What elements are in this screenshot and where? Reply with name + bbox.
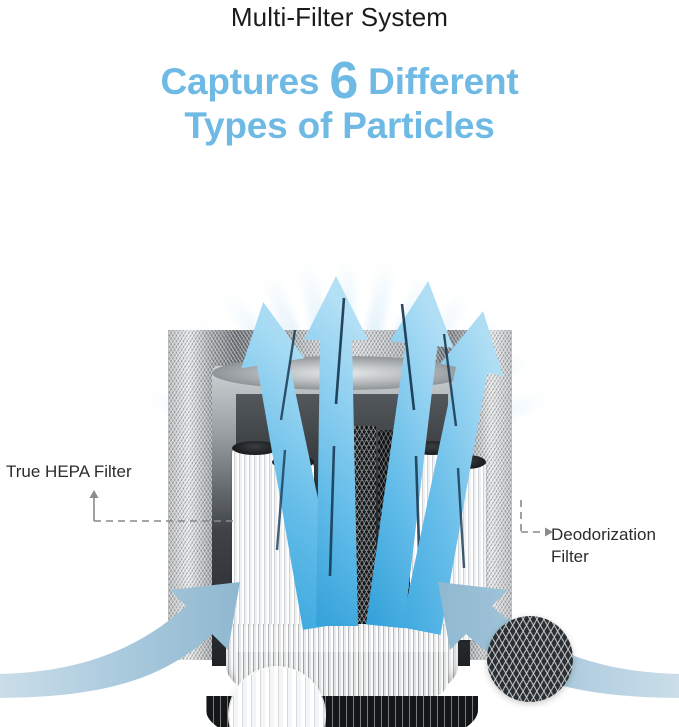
subtitle-number: 6 xyxy=(329,52,358,110)
air-purifier-diagram xyxy=(0,180,679,727)
subtitle-text-before: Captures xyxy=(161,61,330,102)
subtitle-text-after: Different xyxy=(358,61,518,102)
infographic-canvas: Multi-Filter System Captures 6 Different… xyxy=(0,0,679,727)
deodorization-leader-line xyxy=(516,500,562,544)
page-title: Multi-Filter System xyxy=(0,2,679,33)
hepa-label: True HEPA Filter xyxy=(6,461,132,483)
hepa-leader-line xyxy=(88,487,248,527)
airflow-out-arrow-2 xyxy=(300,276,372,626)
deodorization-detail-circle xyxy=(487,616,573,702)
airflow-in-arrow-left xyxy=(0,570,260,700)
deodorization-label: Deodorization Filter xyxy=(551,524,656,568)
subtitle: Captures 6 Different Types of Particles xyxy=(0,58,679,148)
subtitle-line-2: Types of Particles xyxy=(0,105,679,148)
